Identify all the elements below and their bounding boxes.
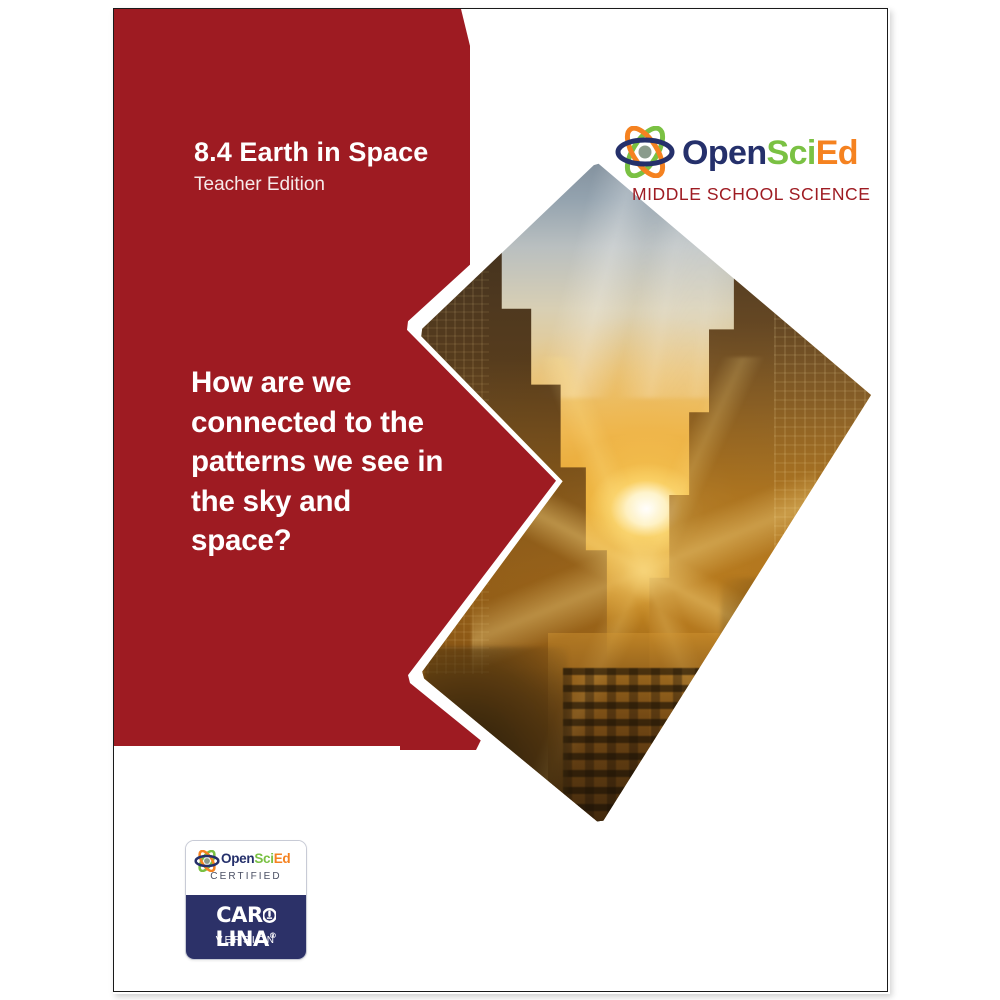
atom-icon (194, 850, 220, 872)
driving-question: How are we connected to the patterns we … (191, 363, 459, 561)
edition-label: Teacher Edition (194, 174, 494, 196)
badge-wordmark: OpenSciEd (221, 851, 290, 866)
wordmark-ed: Ed (816, 134, 858, 172)
badge-top-section: OpenSciEd CERTIFIED (186, 841, 306, 895)
badge-certified-label: CERTIFIED (186, 871, 306, 882)
opensci-ed-wordmark: OpenSciEd (682, 134, 858, 173)
badge-wordmark-open: Open (221, 851, 254, 866)
opensci-ed-logo: OpenSciEd MIDDLE SCHOOL SCIENCE (614, 126, 864, 222)
badge-wordmark-sci: Sci (254, 851, 273, 866)
badge-version-label: VERSION (186, 935, 306, 946)
brand-tagline: MIDDLE SCHOOL SCIENCE (632, 184, 864, 205)
carolina-certified-badge: OpenSciEd CERTIFIED CAR LINA® VERSION (185, 840, 307, 960)
badge-wordmark-ed: Ed (274, 851, 291, 866)
wordmark-sci: Sci (767, 134, 816, 172)
microscope-icon (263, 907, 276, 924)
carolina-part-1: CAR (216, 903, 263, 927)
page-title: 8.4 Earth in Space (194, 138, 494, 166)
badge-bottom-section: CAR LINA® VERSION (186, 895, 306, 959)
wordmark-open: Open (682, 134, 767, 172)
book-cover-page: 8.4 Earth in Space Teacher Edition How a… (0, 0, 1000, 1000)
